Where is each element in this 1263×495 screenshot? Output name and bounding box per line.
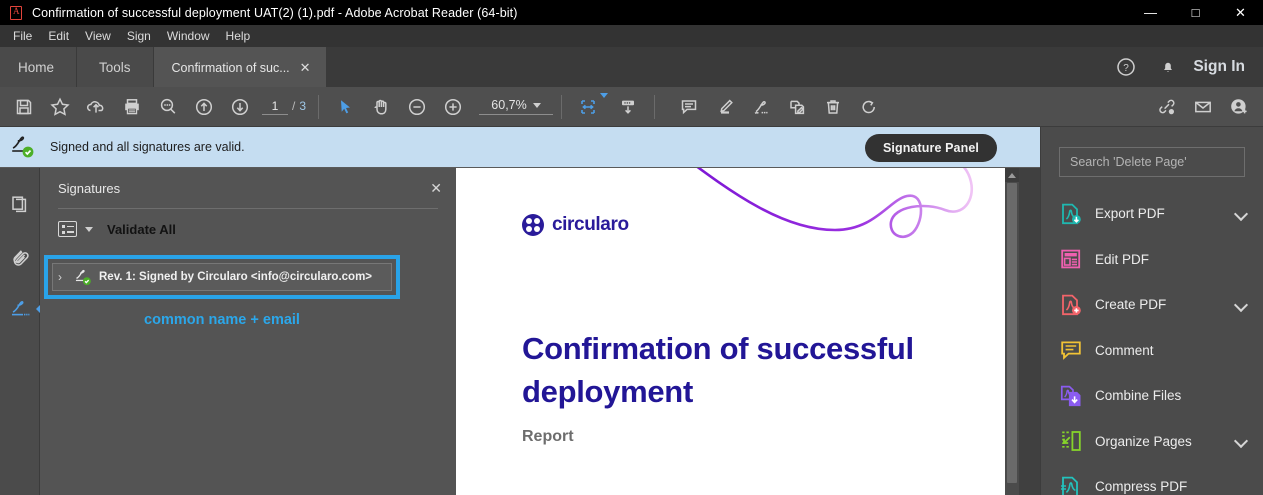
close-window-button[interactable]: ✕ [1218,0,1263,25]
tab-home[interactable]: Home [0,47,77,87]
signature-status-message: Signed and all signatures are valid. [50,140,245,154]
tool-label: Edit PDF [1095,252,1249,267]
tool-label: Compress PDF [1095,479,1249,494]
page-separator: / [292,99,295,113]
toolbar-divider-2 [561,95,562,119]
menu-sign[interactable]: Sign [119,26,159,46]
toolbar-divider-3 [654,95,655,119]
validate-all-row[interactable]: Validate All [40,209,456,247]
delete-page-icon[interactable] [815,87,851,127]
toolbar: 1 / 3 60,7% [0,87,1263,127]
tools-list: Export PDF Edit PDF [1041,191,1263,495]
fill-and-sign-icon[interactable] [743,87,779,127]
zoom-out-icon[interactable] [399,87,435,127]
tool-label: Combine Files [1095,388,1249,403]
comment-icon[interactable] [671,87,707,127]
tool-label: Organize Pages [1095,434,1235,449]
document-subtitle: Report [522,428,574,446]
menu-window[interactable]: Window [159,26,218,46]
scroll-up-arrow-icon[interactable] [1005,168,1019,182]
chevron-down-icon[interactable] [1235,298,1249,312]
tool-label: Comment [1095,343,1249,358]
edit-pdf-icon [1059,247,1083,271]
page-total: 3 [299,99,306,113]
tool-item-create-pdf[interactable]: Create PDF [1041,282,1263,328]
menu-help[interactable]: Help [218,26,259,46]
tool-item-edit-pdf[interactable]: Edit PDF [1041,237,1263,283]
tools-search-input[interactable]: Search 'Delete Page' [1059,147,1245,177]
rotate-page-icon[interactable] [851,87,887,127]
star-icon[interactable] [42,87,78,127]
decorative-curve [675,168,1005,242]
create-pdf-icon [1059,293,1083,317]
save-icon[interactable] [6,87,42,127]
tab-document-label: Confirmation of suc... [172,61,290,75]
cursor-select-icon[interactable] [327,87,363,127]
attachments-icon[interactable] [3,242,37,272]
title-bar: Confirmation of successful deployment UA… [0,0,1263,25]
signature-panel-button[interactable]: Signature Panel [865,134,997,162]
signatures-panel: Signatures ✕ Validate All [40,168,456,495]
question-circle-icon[interactable]: ? [1105,47,1147,87]
tool-item-comment[interactable]: Comment [1041,328,1263,374]
expand-chevron-icon[interactable]: › [58,270,69,284]
fit-width-dropdown[interactable] [600,98,608,116]
zoom-level-value: 60,7% [491,98,526,112]
add-person-icon[interactable] [1221,87,1257,127]
scroll-mode-icon[interactable] [610,87,646,127]
signature-item-text: Rev. 1: Signed by Circularo <info@circul… [99,271,372,283]
print-icon[interactable] [114,87,150,127]
chevron-down-icon[interactable] [85,227,93,232]
menu-bar: File Edit View Sign Window Help [0,25,1263,47]
chevron-down-icon[interactable] [600,93,608,115]
compress-pdf-icon [1059,475,1083,495]
edit-page-icon[interactable] [779,87,815,127]
tools-pane: Search 'Delete Page' Export PDF [1040,127,1263,495]
tool-label: Create PDF [1095,297,1235,312]
hand-pan-icon[interactable] [363,87,399,127]
acrobat-reader-window: Confirmation of successful deployment UA… [0,0,1263,495]
signature-list-item[interactable]: › Rev. 1: Signed by Circularo <info@circ… [52,263,392,291]
toolbar-divider-1 [318,95,319,119]
annotation-caption: common name + email [44,312,400,328]
comment-icon [1059,338,1083,362]
signature-valid-icon [74,269,94,286]
menu-view[interactable]: View [77,26,119,46]
zoom-in-icon[interactable] [435,87,471,127]
tab-document[interactable]: Confirmation of suc... ✕ [154,47,326,87]
chevron-down-icon[interactable] [1235,207,1249,221]
close-icon[interactable]: ✕ [430,180,442,197]
share-link-icon[interactable] [1149,87,1185,127]
sign-in-button[interactable]: Sign In [1189,58,1263,76]
cloud-upload-icon[interactable] [78,87,114,127]
toolbar-right-group [1143,87,1257,127]
signature-valid-icon [10,135,36,159]
signature-panel-icon[interactable] [3,294,37,324]
svg-text:?: ? [1124,63,1130,74]
highlight-icon[interactable] [707,87,743,127]
scrollbar-thumb[interactable] [1007,183,1017,483]
pdf-file-icon [8,5,24,21]
bell-icon[interactable] [1147,47,1189,87]
tab-tools[interactable]: Tools [77,47,154,87]
tool-item-combine-files[interactable]: Combine Files [1041,373,1263,419]
document-heading: Confirmation of successful deployment [522,328,942,414]
export-pdf-icon [1059,202,1083,226]
tools-search-placeholder: Search 'Delete Page' [1070,155,1187,169]
close-icon[interactable]: ✕ [300,60,311,76]
menu-file[interactable]: File [5,26,40,46]
zoom-level-selector[interactable]: 60,7% [479,98,553,115]
page-thumbnails-icon[interactable] [3,190,37,220]
signatures-panel-header: Signatures ✕ [40,168,456,208]
organize-pages-icon [1059,429,1083,453]
document-logo-text: circularo [552,214,629,236]
chevron-down-icon[interactable] [1235,434,1249,448]
tab-bar: Home Tools Confirmation of suc... ✕ ? Si… [0,47,1263,87]
document-logo: circularo [522,214,629,236]
page-number-input[interactable]: 1 [262,99,288,115]
menu-edit[interactable]: Edit [40,26,77,46]
tool-item-export-pdf[interactable]: Export PDF [1041,191,1263,237]
tool-label: Export PDF [1095,206,1235,221]
circularo-dots-icon [522,214,544,236]
left-rail [0,168,40,495]
list-options-icon [58,221,77,237]
tool-item-compress-pdf[interactable]: Compress PDF [1041,464,1263,495]
signatures-panel-title: Signatures [58,181,120,196]
page-up-icon[interactable] [186,87,222,127]
validate-all-label: Validate All [107,222,176,237]
page-down-icon[interactable] [222,87,258,127]
document-viewer[interactable]: circularo Confirmation of successful dep… [456,168,1005,495]
tool-item-organize-pages[interactable]: Organize Pages [1041,419,1263,465]
email-icon[interactable] [1185,87,1221,127]
chevron-down-icon[interactable] [533,103,541,108]
document-page: circularo Confirmation of successful dep… [456,168,1005,495]
maximize-button[interactable]: □ [1173,0,1218,25]
minimize-button[interactable]: — [1128,0,1173,25]
window-title: Confirmation of successful deployment UA… [32,6,517,20]
combine-files-icon [1059,384,1083,408]
search-icon[interactable] [150,87,186,127]
vertical-scrollbar[interactable] [1005,168,1019,495]
window-controls: — □ ✕ [1128,0,1263,25]
page-indicator: 1 / 3 [262,99,306,115]
